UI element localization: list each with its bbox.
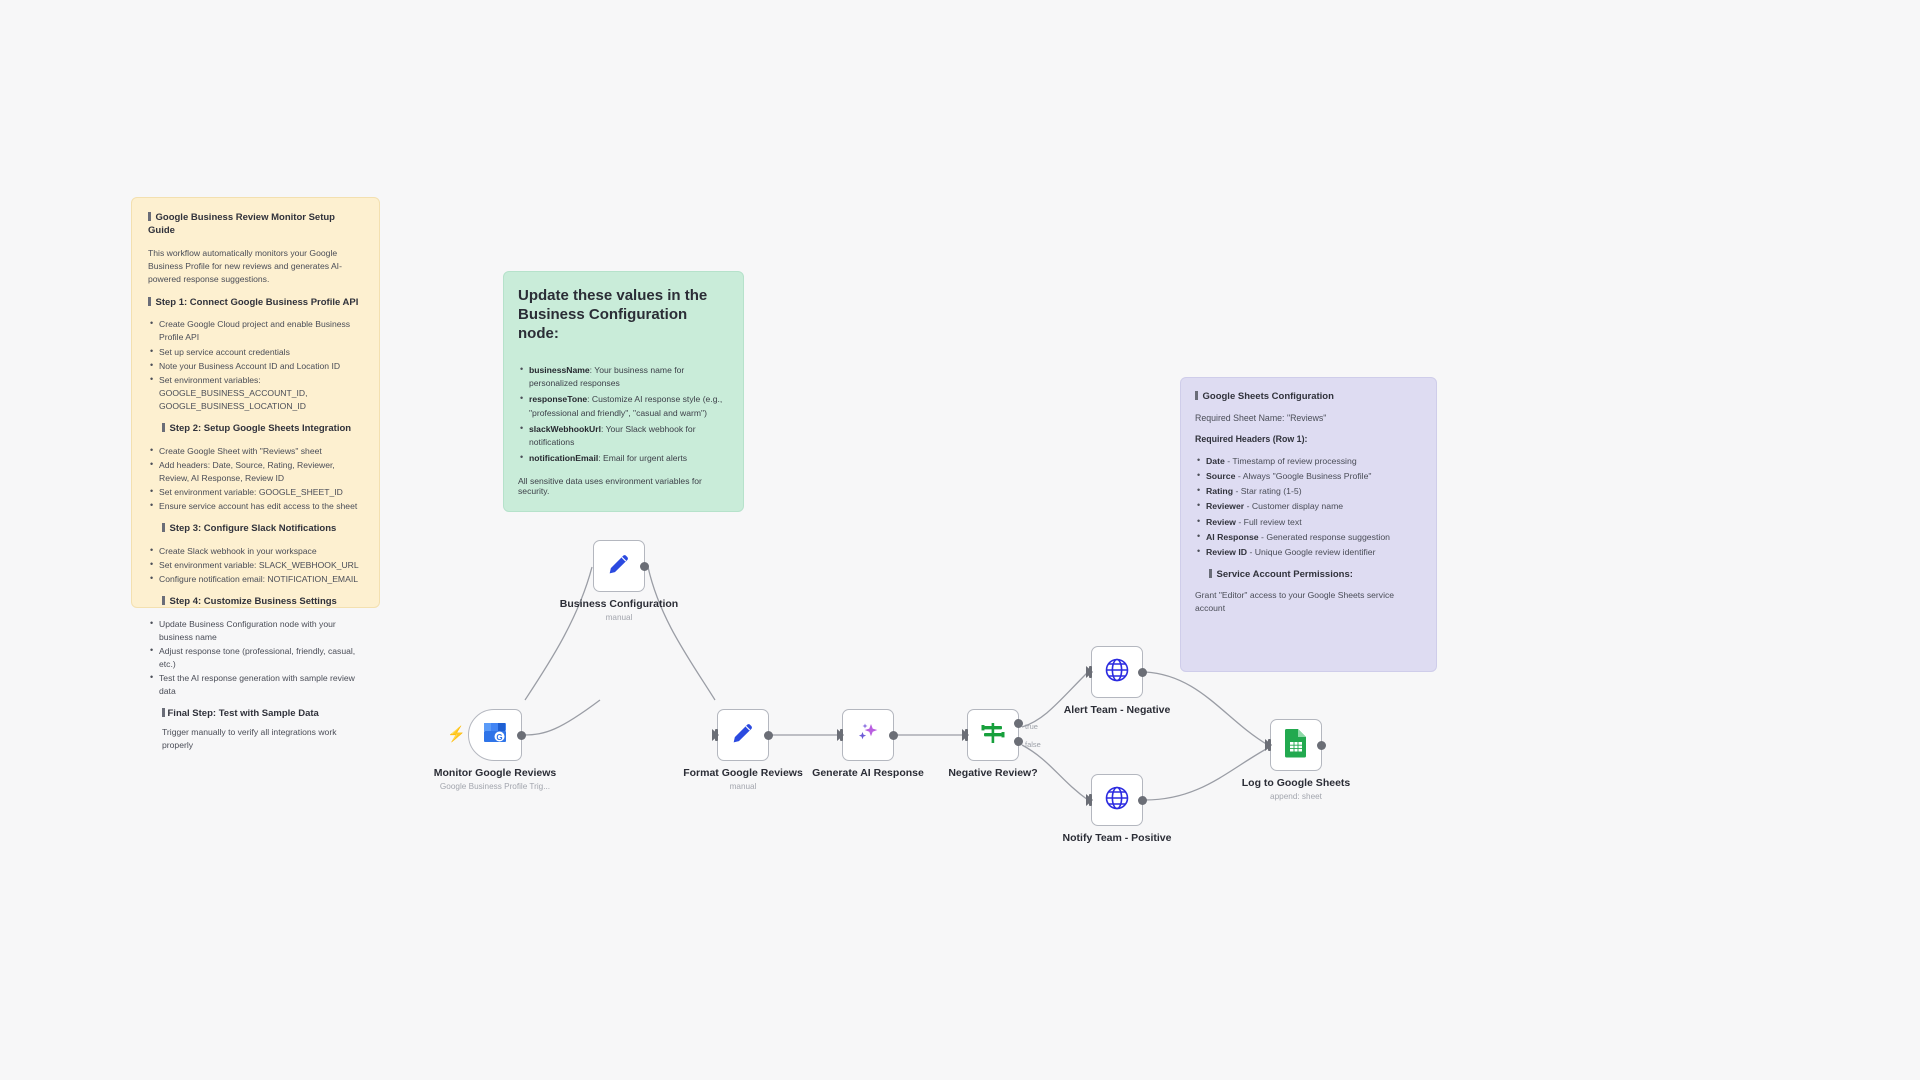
step-4-title: Step 4: Customize Business Settings (162, 596, 363, 609)
header-key: AI Response (1206, 532, 1259, 542)
list-item: Create Slack webhook in your workspace (148, 545, 363, 558)
list-item: Create Google Sheet with "Reviews" sheet (148, 445, 363, 458)
list-item: Date - Timestamp of review processing (1195, 455, 1422, 468)
node-label: Business Configuration (560, 598, 678, 610)
branch-label-true: true (1025, 722, 1038, 731)
list-item: Note your Business Account ID and Locati… (148, 360, 363, 373)
business-config-list: businessName: Your business name for per… (518, 364, 729, 466)
final-step-title: Final Step: Test with Sample Data (162, 708, 363, 721)
list-item: Add headers: Date, Source, Rating, Revie… (148, 459, 363, 485)
output-port[interactable] (889, 731, 898, 740)
node-body[interactable] (1270, 719, 1322, 771)
node-body[interactable] (1091, 646, 1143, 698)
header-key: Source (1206, 471, 1235, 481)
node-subtitle: manual (730, 782, 757, 791)
sparkles-icon (853, 718, 883, 753)
header-desc: - Timestamp of review processing (1225, 456, 1357, 466)
sheets-headers-list: Date - Timestamp of review processing So… (1195, 455, 1422, 560)
header-desc: - Star rating (1-5) (1233, 486, 1302, 496)
node-body[interactable] (717, 709, 769, 761)
list-item: Create Google Cloud project and enable B… (148, 318, 363, 344)
node-label: Alert Team - Negative (1064, 704, 1171, 716)
final-step-text: Trigger manually to verify all integrati… (162, 726, 363, 753)
step-3-title: Step 3: Configure Slack Notifications (162, 523, 363, 536)
globe-icon (1103, 784, 1131, 817)
step-2-list: Create Google Sheet with "Reviews" sheet… (148, 445, 363, 513)
header-desc: - Customer display name (1244, 501, 1343, 511)
output-port[interactable] (640, 562, 649, 571)
list-item: Reviewer - Customer display name (1195, 500, 1422, 513)
node-log-to-google-sheets[interactable]: Log to Google Sheets append: sheet (1270, 719, 1322, 771)
node-business-configuration[interactable]: Business Configuration manual (593, 540, 645, 592)
switch-icon (979, 719, 1007, 752)
node-label: Log to Google Sheets (1242, 777, 1351, 789)
input-port[interactable] (1086, 666, 1093, 678)
output-port[interactable] (1138, 668, 1147, 677)
list-item: Configure notification email: NOTIFICATI… (148, 573, 363, 586)
config-key: notificationEmail (529, 453, 598, 463)
header-key: Reviewer (1206, 501, 1244, 511)
setup-guide-title: Google Business Review Monitor Setup Gui… (148, 212, 363, 238)
output-port[interactable] (1138, 796, 1147, 805)
step-3-list: Create Slack webhook in your workspace S… (148, 545, 363, 586)
node-subtitle: append: sheet (1270, 792, 1322, 801)
svg-text:G: G (496, 733, 502, 742)
node-label: Generate AI Response (812, 767, 924, 779)
header-desc: - Always "Google Business Profile" (1235, 471, 1371, 481)
list-item: Update Business Configuration node with … (148, 618, 363, 644)
node-negative-review[interactable]: true false Negative Review? (967, 709, 1019, 761)
header-desc: - Unique Google review identifier (1247, 547, 1375, 557)
node-format-google-reviews[interactable]: Format Google Reviews manual (717, 709, 769, 761)
node-alert-team-negative[interactable]: Alert Team - Negative (1091, 646, 1143, 698)
node-notify-team-positive[interactable]: Notify Team - Positive (1091, 774, 1143, 826)
sticky-note-business-config[interactable]: Update these values in the Business Conf… (503, 271, 744, 512)
list-item: notificationEmail: Email for urgent aler… (518, 452, 729, 465)
input-port[interactable] (1265, 739, 1272, 751)
step-1-list: Create Google Cloud project and enable B… (148, 318, 363, 412)
list-item: Set environment variables: GOOGLE_BUSINE… (148, 374, 363, 413)
sheets-config-title: Google Sheets Configuration (1195, 391, 1422, 404)
output-port[interactable] (1317, 741, 1326, 750)
step-4-list: Update Business Configuration node with … (148, 618, 363, 698)
setup-guide-intro: This workflow automatically monitors you… (148, 247, 363, 287)
output-port[interactable] (517, 731, 526, 740)
header-desc: - Generated response suggestion (1259, 532, 1390, 542)
header-key: Date (1206, 456, 1225, 466)
node-label: Monitor Google Reviews (434, 767, 557, 779)
list-item: Ensure service account has edit access t… (148, 500, 363, 513)
headers-label: Required Headers (Row 1): (1195, 434, 1422, 444)
node-body[interactable]: true false (967, 709, 1019, 761)
node-body[interactable] (842, 709, 894, 761)
step-2-title: Step 2: Setup Google Sheets Integration (162, 423, 363, 436)
input-port[interactable] (837, 729, 844, 741)
output-port-false[interactable] (1014, 737, 1023, 746)
config-key: slackWebhookUrl (529, 424, 601, 434)
node-body[interactable]: ⚡ G (468, 709, 522, 761)
permissions-title: Service Account Permissions: (1209, 569, 1422, 582)
list-item: Review - Full review text (1195, 516, 1422, 529)
pencil-icon (729, 719, 757, 752)
config-key: businessName (529, 365, 590, 375)
output-port[interactable] (764, 731, 773, 740)
header-desc: - Full review text (1236, 517, 1302, 527)
list-item: Test the AI response generation with sam… (148, 672, 363, 698)
branch-label-false: false (1025, 740, 1041, 749)
header-key: Review (1206, 517, 1236, 527)
google-sheets-icon (1283, 728, 1309, 763)
node-body[interactable] (593, 540, 645, 592)
config-key: responseTone (529, 394, 587, 404)
node-label: Negative Review? (948, 767, 1037, 779)
google-business-profile-icon: G (481, 721, 509, 750)
globe-icon (1103, 656, 1131, 689)
sheet-name-row: Required Sheet Name: "Reviews" (1195, 413, 1422, 423)
input-port[interactable] (1086, 794, 1093, 806)
input-port[interactable] (962, 729, 969, 741)
node-body[interactable] (1091, 774, 1143, 826)
header-key: Review ID (1206, 547, 1247, 557)
node-label: Notify Team - Positive (1063, 832, 1172, 844)
list-item: Source - Always "Google Business Profile… (1195, 470, 1422, 483)
permissions-text: Grant "Editor" access to your Google She… (1195, 589, 1422, 615)
input-port[interactable] (712, 729, 719, 741)
list-item: AI Response - Generated response suggest… (1195, 531, 1422, 544)
list-item: Review ID - Unique Google review identif… (1195, 546, 1422, 559)
list-item: Rating - Star rating (1-5) (1195, 485, 1422, 498)
pencil-icon (605, 550, 633, 583)
list-item: responseTone: Customize AI response styl… (518, 393, 729, 420)
header-key: Rating (1206, 486, 1233, 496)
node-subtitle: manual (606, 613, 633, 622)
lightning-bolt-icon: ⚡ (447, 727, 466, 742)
list-item: Adjust response tone (professional, frie… (148, 645, 363, 671)
list-item: Set environment variable: GOOGLE_SHEET_I… (148, 486, 363, 499)
workflow-canvas[interactable]: Google Business Review Monitor Setup Gui… (0, 0, 1920, 1080)
list-item: businessName: Your business name for per… (518, 364, 729, 391)
list-item: slackWebhookUrl: Your Slack webhook for … (518, 423, 729, 450)
step-1-title: Step 1: Connect Google Business Profile … (148, 297, 363, 310)
node-subtitle: Google Business Profile Trig... (440, 782, 550, 791)
sticky-note-setup-guide[interactable]: Google Business Review Monitor Setup Gui… (131, 197, 380, 608)
sheet-name-label: Required Sheet Name: (1195, 413, 1285, 423)
business-config-footer: All sensitive data uses environment vari… (518, 476, 729, 496)
business-config-title: Update these values in the Business Conf… (518, 286, 729, 344)
node-monitor-google-reviews[interactable]: ⚡ G Monitor Google Reviews Google Busine… (468, 709, 522, 761)
list-item: Set up service account credentials (148, 346, 363, 359)
config-desc: : Email for urgent alerts (598, 453, 687, 463)
node-label: Format Google Reviews (683, 767, 803, 779)
sheet-name-value: "Reviews" (1285, 413, 1327, 423)
output-port-true[interactable] (1014, 719, 1023, 728)
sticky-note-sheets-config[interactable]: Google Sheets Configuration Required She… (1180, 377, 1437, 672)
node-generate-ai-response[interactable]: Generate AI Response (842, 709, 894, 761)
list-item: Set environment variable: SLACK_WEBHOOK_… (148, 559, 363, 572)
